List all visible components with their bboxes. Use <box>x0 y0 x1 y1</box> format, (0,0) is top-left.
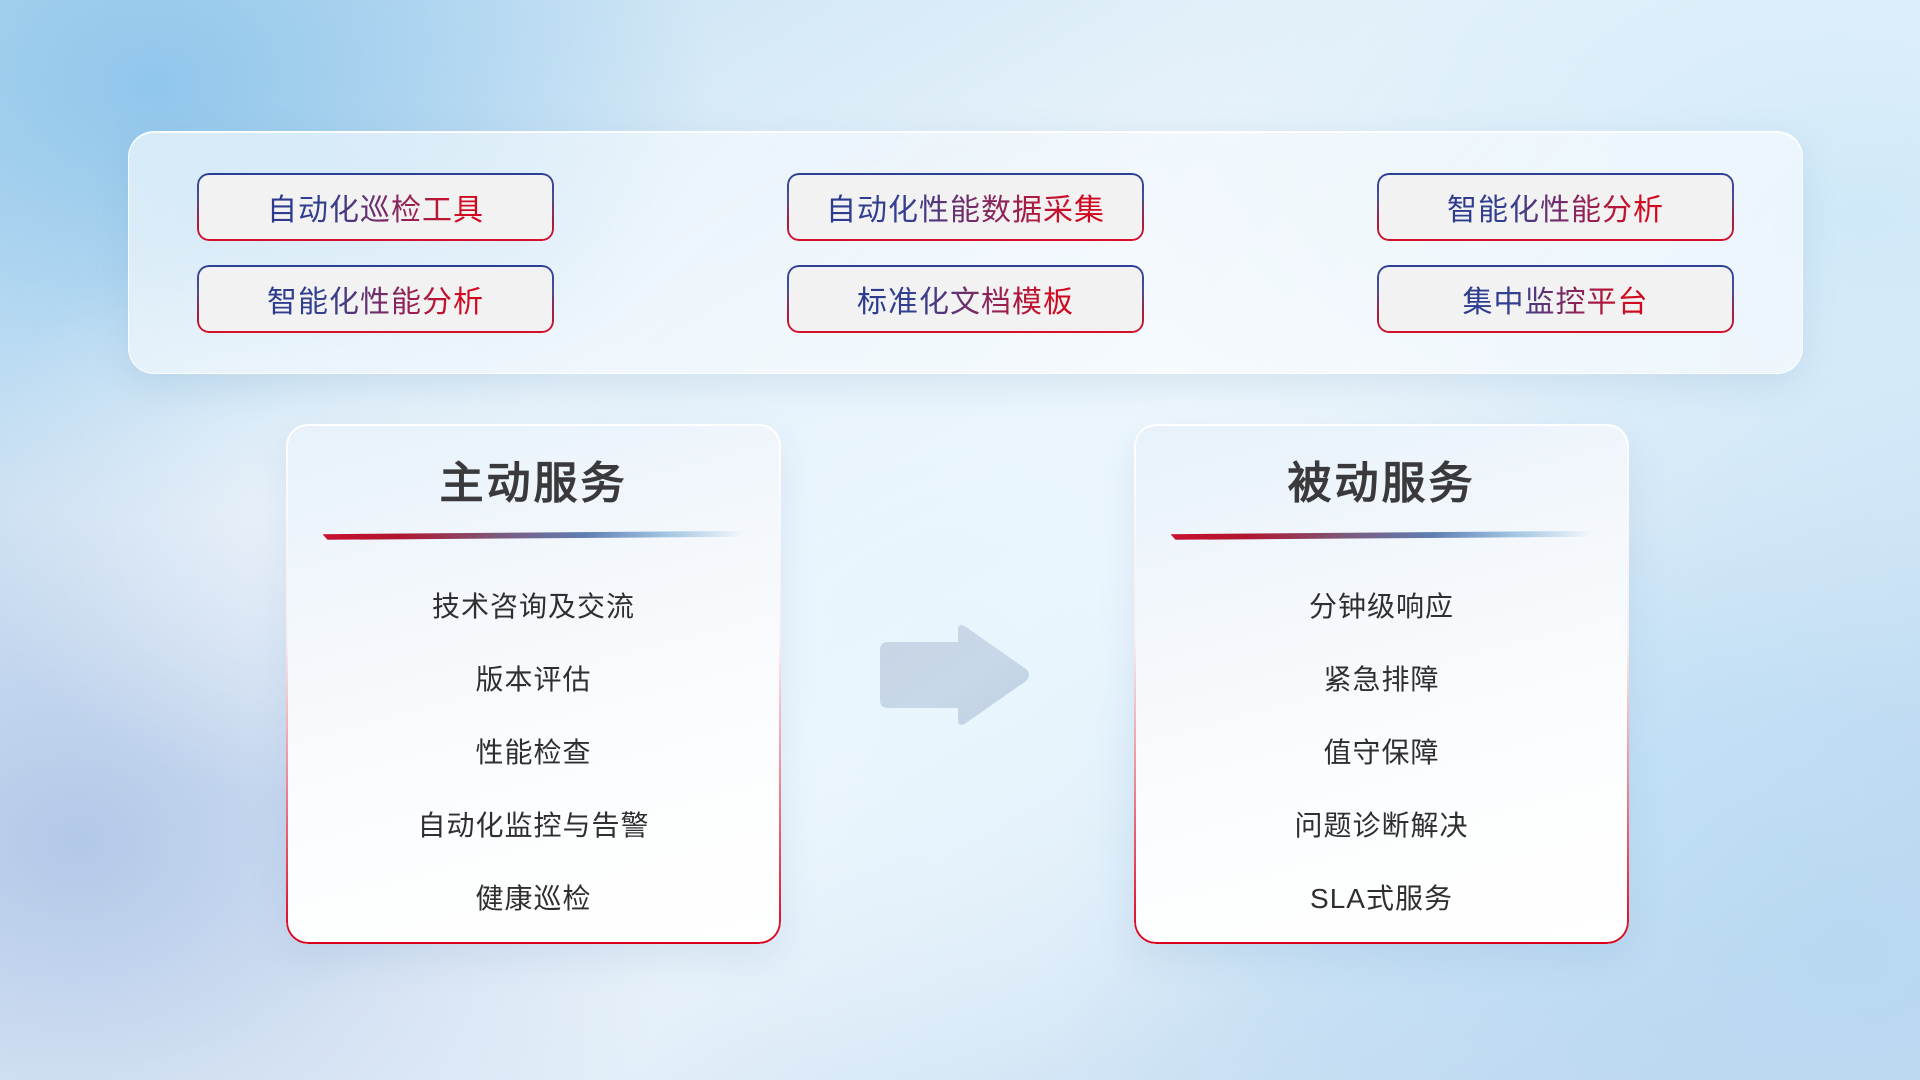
capability-pill-automated-performance-data-collection[interactable]: 自动化性能数据采集 <box>787 173 1144 241</box>
service-list-item: 性能检查 <box>475 716 591 789</box>
service-card-proactive: 主动服务 技术咨询及交流 版本评估 性能检查 自动化监控与告警 健康巡检 <box>286 424 781 944</box>
capability-pill-label: 自动化巡检工具 <box>267 185 484 229</box>
capability-pill-label: 自动化性能数据采集 <box>826 185 1105 229</box>
service-card-title: 被动服务 <box>1288 458 1476 511</box>
title-divider <box>1171 531 1593 540</box>
service-list-item: 技术咨询及交流 <box>432 570 635 643</box>
capability-pill-standardized-doc-template[interactable]: 标准化文档模板 <box>787 265 1144 333</box>
capability-pill-label: 智能化性能分析 <box>1447 185 1664 229</box>
service-card-reactive: 被动服务 分钟级响应 紧急排障 值守保障 问题诊断解决 SLA式服务 <box>1134 424 1629 944</box>
capability-row-1: 自动化巡检工具 自动化性能数据采集 智能化性能分析 <box>197 173 1734 241</box>
capability-pill-label: 智能化性能分析 <box>267 277 484 321</box>
service-card-title: 主动服务 <box>440 458 628 511</box>
arrow-right-icon <box>872 622 1032 728</box>
service-list-item: 自动化监控与告警 <box>417 789 649 862</box>
capabilities-panel: 自动化巡检工具 自动化性能数据采集 智能化性能分析 智能化性能分析 标准化文档模… <box>128 131 1803 374</box>
capability-pill-intelligent-performance-analysis[interactable]: 智能化性能分析 <box>1377 173 1734 241</box>
service-list-item: SLA式服务 <box>1310 862 1453 935</box>
title-divider <box>323 531 745 540</box>
service-list-item: 版本评估 <box>475 643 591 716</box>
service-list-item: 紧急排障 <box>1323 643 1439 716</box>
service-card-inner: 被动服务 分钟级响应 紧急排障 值守保障 问题诊断解决 SLA式服务 <box>1134 424 1629 944</box>
service-list-item: 分钟级响应 <box>1309 570 1454 643</box>
service-card-inner: 主动服务 技术咨询及交流 版本评估 性能检查 自动化监控与告警 健康巡检 <box>286 424 781 944</box>
service-list-item: 问题诊断解决 <box>1294 789 1468 862</box>
service-list-item: 值守保障 <box>1323 716 1439 789</box>
service-item-list: 分钟级响应 紧急排障 值守保障 问题诊断解决 SLA式服务 <box>1178 570 1585 935</box>
capability-pill-intelligent-performance-analysis-2[interactable]: 智能化性能分析 <box>197 265 554 333</box>
capability-pill-label: 集中监控平台 <box>1463 277 1649 321</box>
service-item-list: 技术咨询及交流 版本评估 性能检查 自动化监控与告警 健康巡检 <box>330 570 737 935</box>
service-list-item: 健康巡检 <box>475 862 591 935</box>
capability-pill-automated-inspection-tool[interactable]: 自动化巡检工具 <box>197 173 554 241</box>
capability-pill-label: 标准化文档模板 <box>857 277 1074 321</box>
slide-canvas: 自动化巡检工具 自动化性能数据采集 智能化性能分析 智能化性能分析 标准化文档模… <box>0 0 1920 1080</box>
capability-pill-centralized-monitoring-platform[interactable]: 集中监控平台 <box>1377 265 1734 333</box>
arrow-right-icon-svg <box>872 622 1032 728</box>
capability-row-2: 智能化性能分析 标准化文档模板 集中监控平台 <box>197 265 1734 333</box>
